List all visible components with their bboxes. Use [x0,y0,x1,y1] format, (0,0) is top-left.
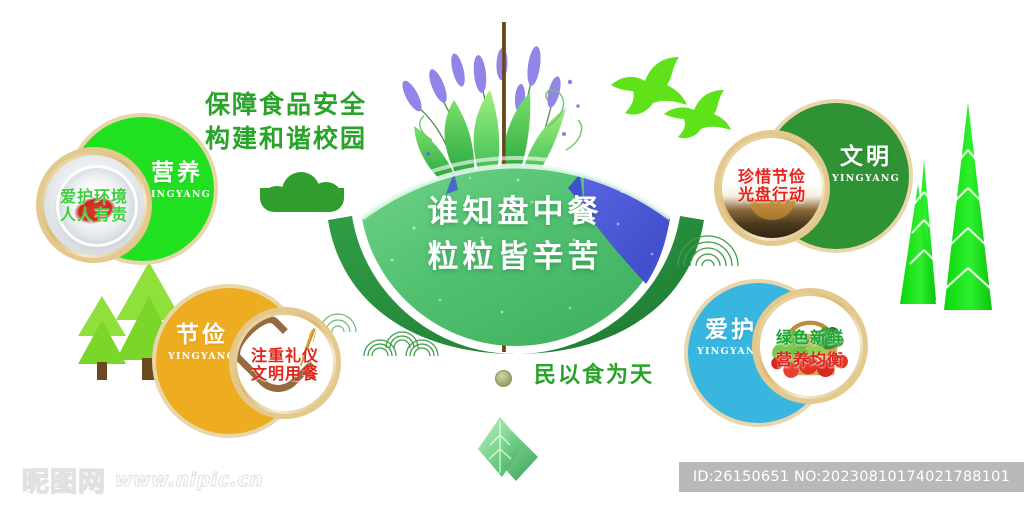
image-id-bar: ID:26150651 NO:20230810174021788101 [679,462,1024,492]
poster-canvas: 谁知盘中餐 粒粒皆辛苦 [0,0,1024,506]
badge-civility-caption-line2: 光盘行动 [722,186,822,204]
image-id-text: ID:26150651 NO:20230810174021788101 [693,469,1010,485]
badge-civility-caption: 珍惜节俭 光盘行动 [722,168,822,204]
badge-nutrition-caption-line2: 人人有责 [44,206,144,224]
badge-thrift-photo-circle[interactable]: 注重礼仪 文明用餐 [229,307,341,419]
badge-civility-caption-line1: 珍惜节俭 [722,168,822,186]
headline-line1: 保障食品安全 [205,88,515,122]
badge-thrift-caption-line2: 文明用餐 [237,365,333,383]
watermark-url-text: www.nipic.cn [115,469,263,491]
headline-line2: 构建和谐校园 [205,122,515,156]
badge-thrift-cn: 节俭 [164,322,240,348]
badge-nutrition-caption: 爱护环境 人人有责 [44,188,144,224]
badge-nutrition-caption-line1: 爱护环境 [44,188,144,206]
badge-care-caption: 绿色新鲜 营养均衡 [760,329,860,369]
badge-civility-label: 文明 YINGYANG [828,144,904,184]
badge-care-caption-line2: 营养均衡 [760,351,860,369]
site-watermark: 昵图网 www.nipic.cn [22,460,263,499]
badge-civility-photo-circle[interactable]: 珍惜节俭 光盘行动 [714,130,830,246]
badge-thrift-caption: 注重礼仪 文明用餐 [237,347,333,383]
hanging-leaf-ornament [470,415,542,485]
badge-nutrition-cn: 营养 [140,160,214,186]
badge-thrift-caption-line1: 注重礼仪 [237,347,333,365]
conifer-trees-right [884,88,1024,320]
watermark-logo-text: 昵图网 [22,460,106,499]
badge-care-photo-circle[interactable]: 绿色新鲜 营养均衡 [752,288,868,404]
page-headline: 保障食品安全 构建和谐校园 [205,88,515,156]
fan-slogan: 谁知盘中餐 粒粒皆辛苦 [360,190,670,280]
fan-slogan-line2: 粒粒皆辛苦 [360,235,670,280]
wave-arcs-left [358,316,442,358]
badge-care-caption-line1: 绿色新鲜 [760,329,860,347]
hanging-bead [495,370,512,387]
fan-slogan-line1: 谁知盘中餐 [360,190,670,235]
tagline-text: 民以食为天 [534,357,654,389]
badge-civility-cn: 文明 [828,144,904,170]
badge-nutrition-photo-circle[interactable]: 爱护环境 人人有责 [36,147,152,263]
badge-civility-en: YINGYANG [828,173,904,184]
